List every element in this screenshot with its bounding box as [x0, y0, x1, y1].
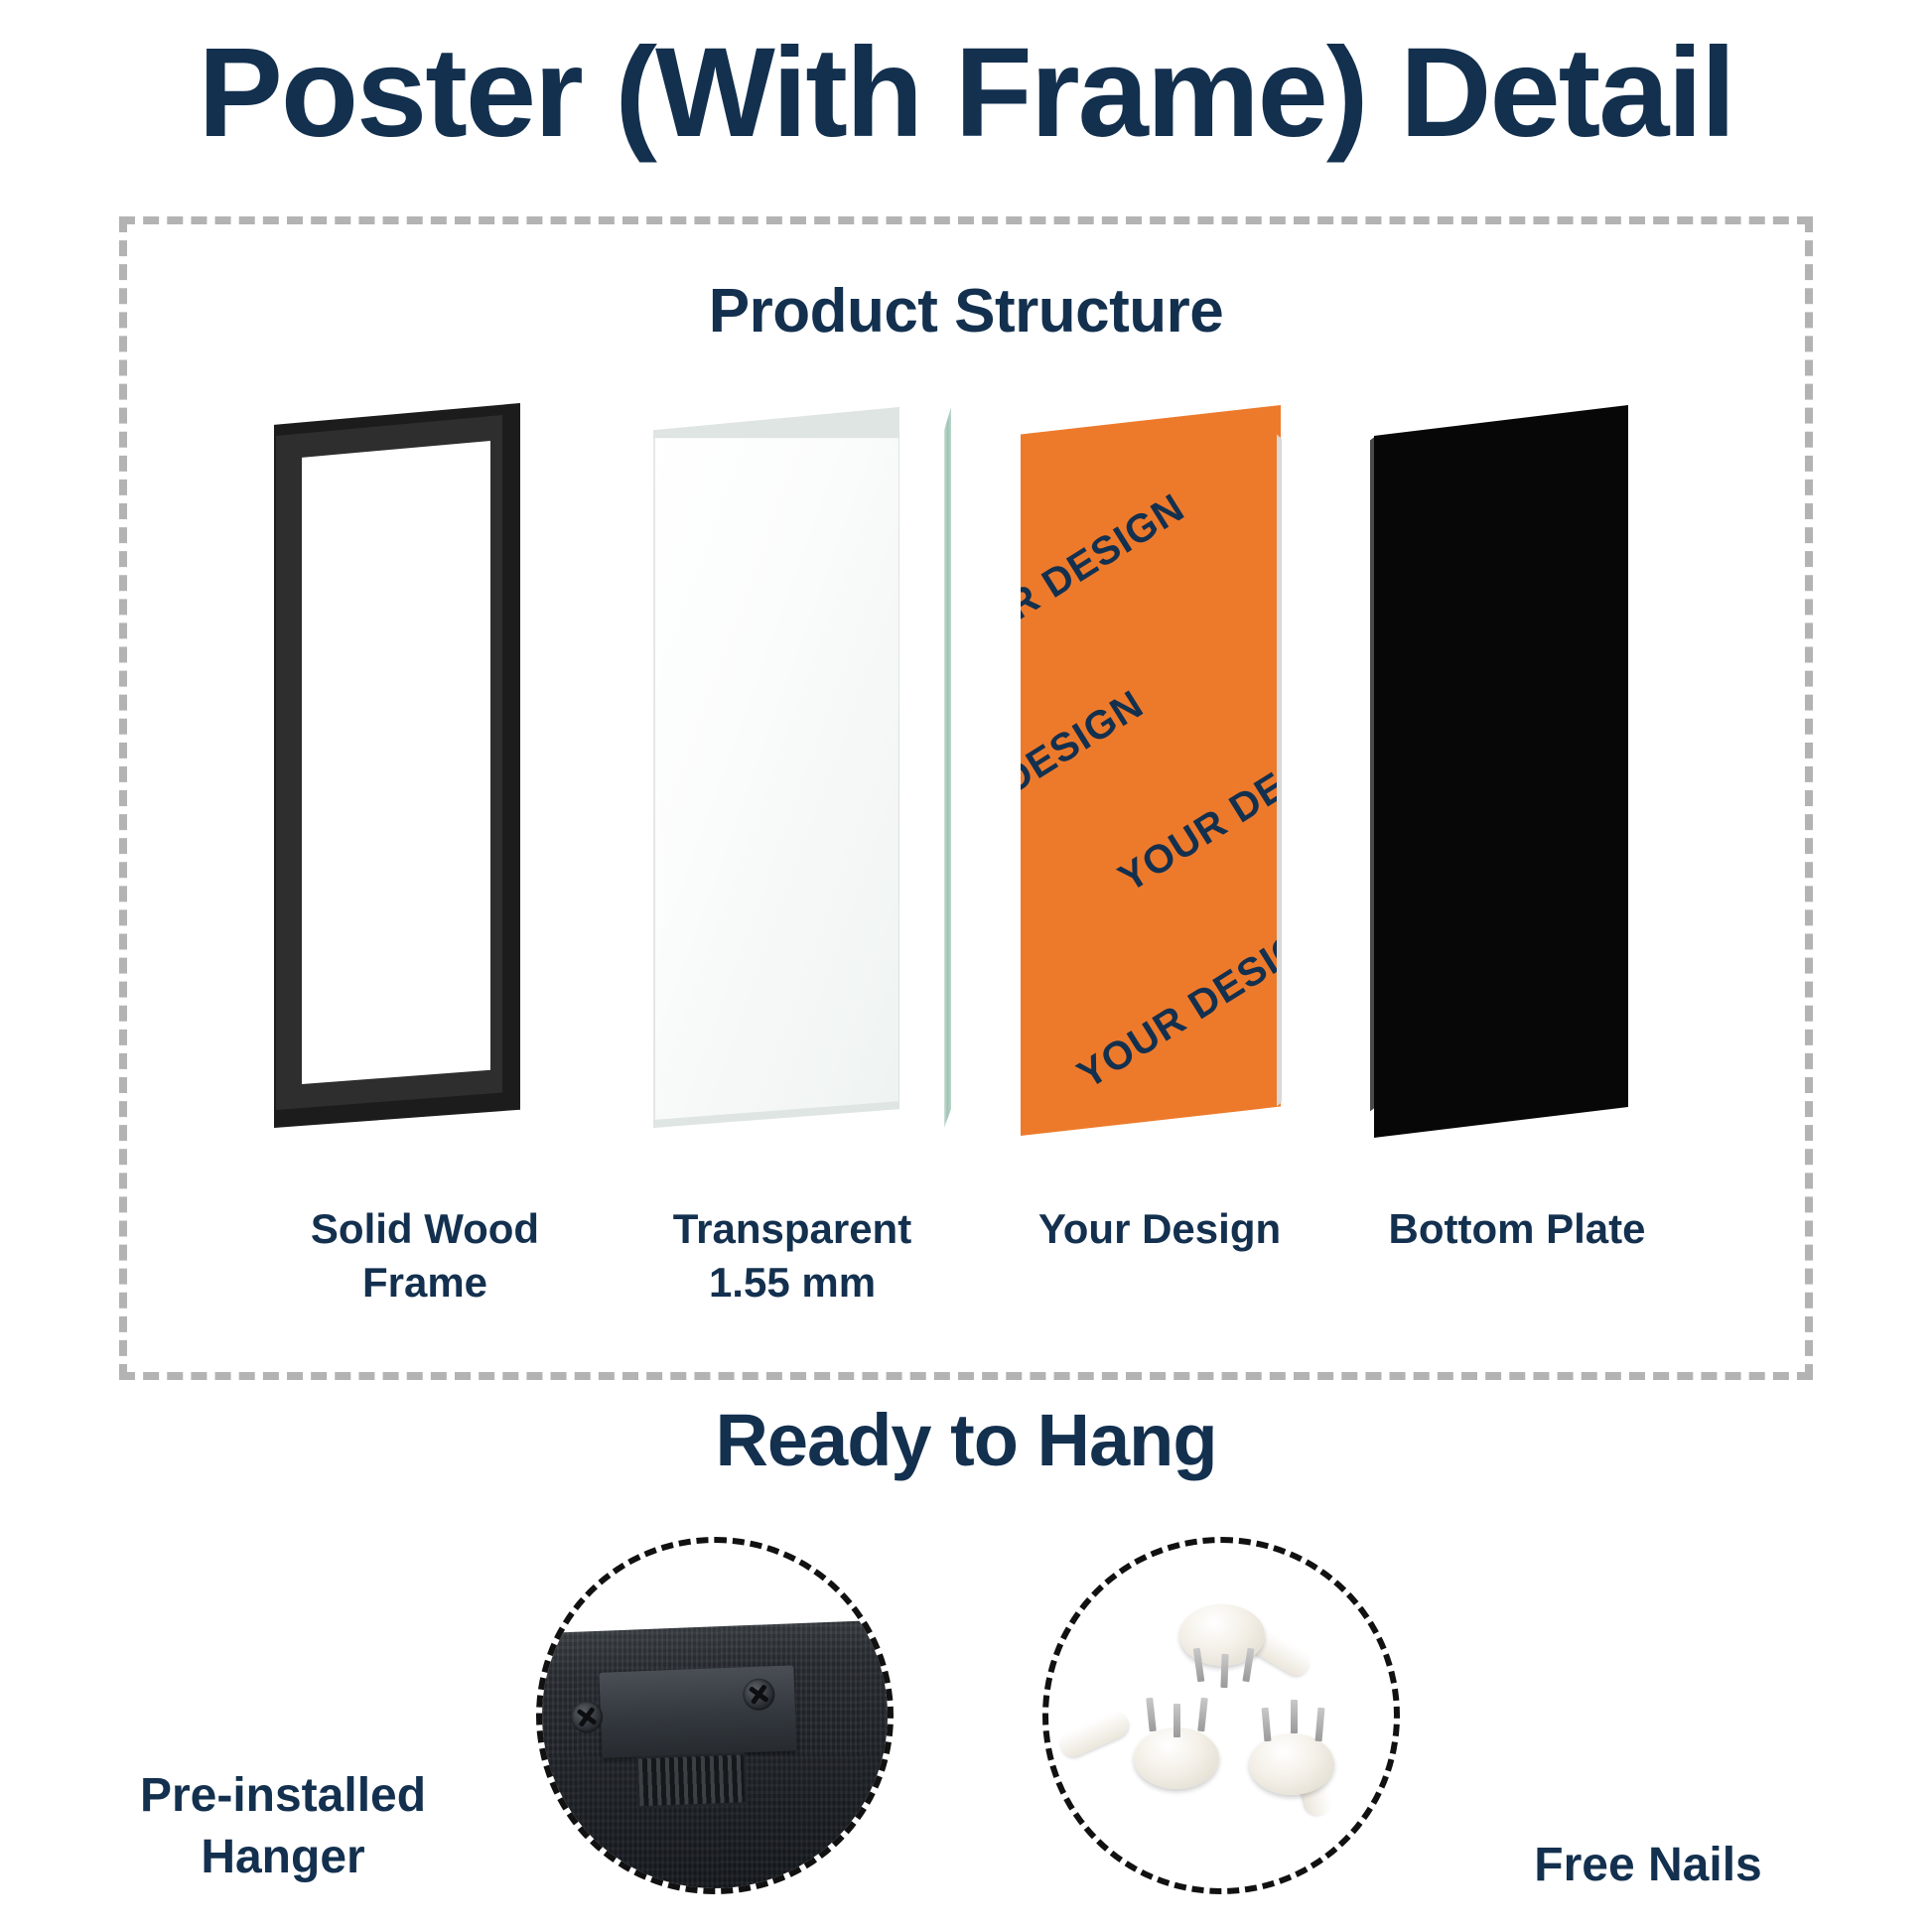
solid-wood-frame-illustration: [266, 393, 584, 1148]
product-structure-section: Product Structure YOUR DESIGN: [119, 216, 1813, 1380]
hook-pin: [1262, 1708, 1272, 1741]
page-title: Poster (With Frame) Detail: [0, 24, 1932, 164]
caption-transparent-sheet: Transparent 1.55 mm: [604, 1202, 981, 1310]
hook-pin: [1291, 1700, 1298, 1733]
bottom-plate-illustration: [1368, 393, 1686, 1148]
frame-opening: [302, 441, 490, 1084]
caption-line: Frame: [236, 1256, 614, 1310]
frame-back-surface: [536, 1618, 894, 1894]
caption-line: Bottom Plate: [1328, 1202, 1706, 1256]
caption-bottom-plate: Bottom Plate: [1328, 1202, 1706, 1256]
product-structure-heading: Product Structure: [127, 276, 1805, 346]
plate-face: [1374, 405, 1628, 1138]
caption-line: Your Design: [971, 1202, 1348, 1256]
ready-to-hang-heading: Ready to Hang: [0, 1398, 1932, 1482]
structure-panels-row: YOUR DESIGN YOUR DESIGN YOUR DESIGN YOUR…: [127, 393, 1805, 1148]
caption-line: Transparent: [604, 1202, 981, 1256]
caption-solid-wood-frame: Solid Wood Frame: [236, 1202, 614, 1310]
sawtooth-hanger-bracket: [599, 1665, 796, 1757]
hook-pin: [1197, 1698, 1208, 1732]
transparent-sheet-illustration: [643, 393, 961, 1148]
caption-free-nails: Free Nails: [1449, 1835, 1847, 1896]
caption-pre-installed-hanger: Pre-installed Hanger: [69, 1765, 496, 1889]
caption-your-design: Your Design: [971, 1202, 1348, 1256]
glass-side-edge: [944, 407, 951, 1128]
hook-pin: [1173, 1704, 1180, 1737]
caption-line: Pre-installed: [69, 1765, 496, 1827]
caption-line: Hanger: [69, 1827, 496, 1888]
design-sheet-edge: [1277, 405, 1282, 1136]
sawtooth-teeth: [636, 1752, 748, 1808]
hook-pin: [1315, 1708, 1325, 1741]
hook-head: [1249, 1733, 1334, 1795]
design-watermark-pattern: YOUR DESIGN YOUR DESIGN YOUR DESIGN YOUR…: [1021, 405, 1281, 1136]
hook-stem: [1056, 1708, 1132, 1760]
watermark-text: YOUR DESIGN: [1021, 405, 1172, 450]
infographic-page: Poster (With Frame) Detail Product Struc…: [0, 0, 1932, 1932]
glass-pane: [653, 407, 899, 1128]
caption-line: Solid Wood: [236, 1202, 614, 1256]
caption-line: 1.55 mm: [604, 1256, 981, 1310]
hook-pin: [1146, 1698, 1157, 1732]
free-nails-photo: [1042, 1537, 1400, 1894]
your-design-illustration: YOUR DESIGN YOUR DESIGN YOUR DESIGN YOUR…: [1021, 393, 1338, 1148]
hook-pin: [1220, 1654, 1228, 1688]
design-poster-sheet: YOUR DESIGN YOUR DESIGN YOUR DESIGN YOUR…: [1021, 405, 1281, 1136]
pre-installed-hanger-photo: [536, 1537, 894, 1894]
